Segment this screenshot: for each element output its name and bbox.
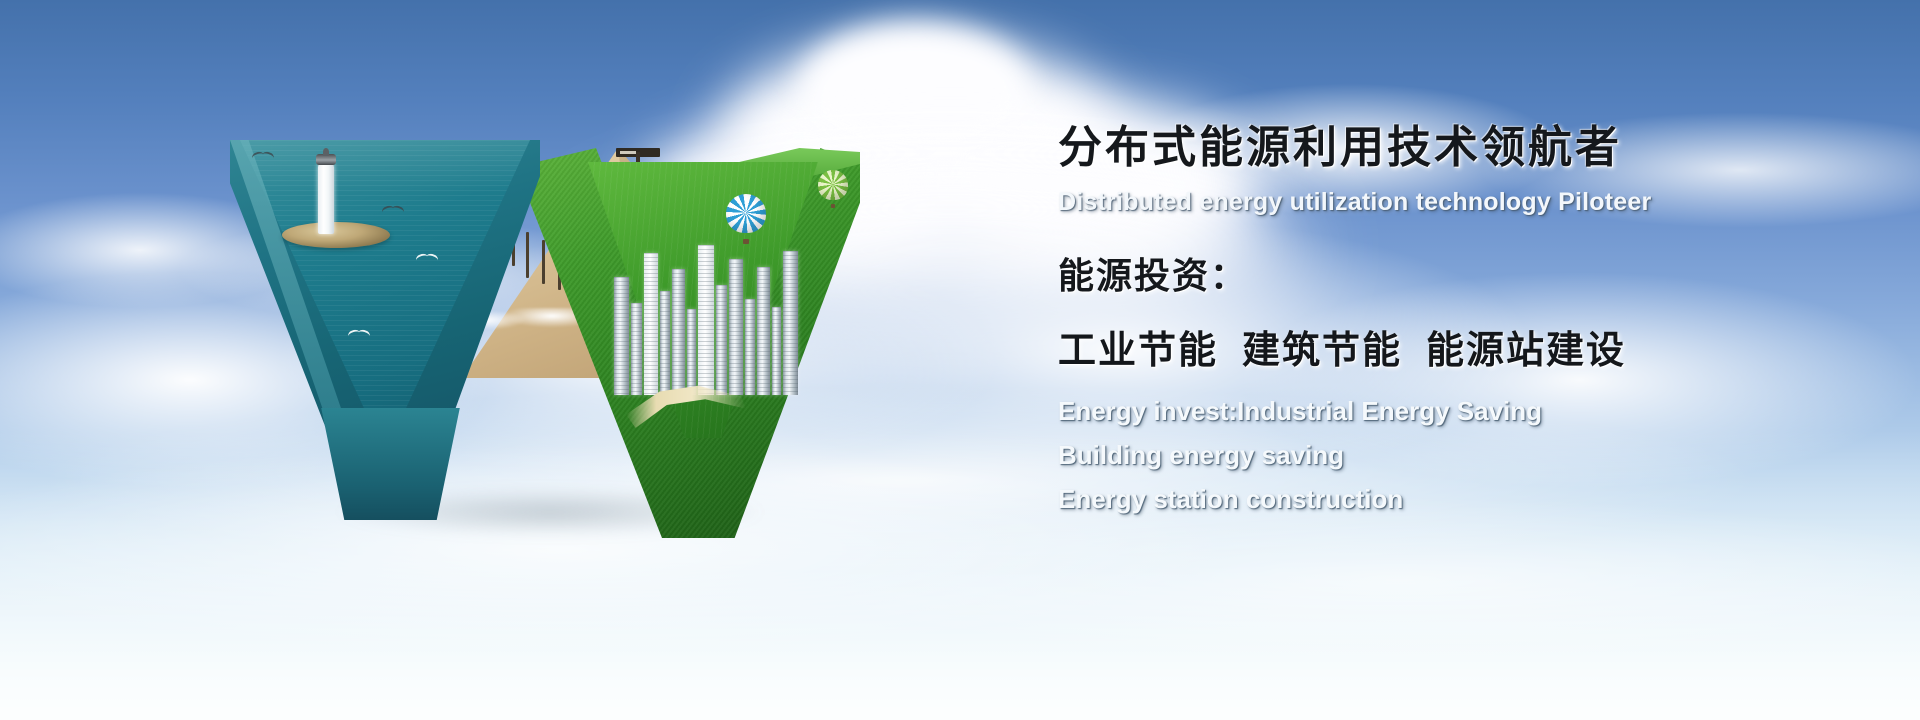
service-item-2: 能源站建设 <box>1426 330 1626 372</box>
city-skyline <box>614 210 804 395</box>
headline-english: Distributed energy utilization technolog… <box>1058 188 1858 217</box>
service-line-en-2: Energy station construction <box>1058 484 1858 515</box>
hero-artwork-w <box>230 120 870 540</box>
service-items-chinese: 工业节能建筑节能能源站建设 <box>1058 319 1858 374</box>
service-item-0: 工业节能 <box>1058 330 1218 372</box>
seagull-3 <box>348 326 370 336</box>
building-0 <box>614 277 629 395</box>
section-title-chinese: 能源投资： <box>1058 247 1858 299</box>
building-6 <box>698 245 714 395</box>
building-3 <box>660 291 670 395</box>
service-lines-english: Energy invest:Industrial Energy SavingBu… <box>1058 396 1858 515</box>
headline-chinese: 分布式能源利用技术领航者 <box>1058 124 1858 172</box>
seagull-2 <box>416 250 438 260</box>
lighthouse-icon <box>318 162 334 234</box>
letter-v-ocean <box>230 140 540 500</box>
building-7 <box>716 285 727 395</box>
lighthouse-roof-icon <box>323 148 329 156</box>
building-8 <box>729 259 743 395</box>
letter-v-grass <box>530 148 860 538</box>
building-11 <box>772 307 781 395</box>
building-10 <box>757 267 770 395</box>
seagull-0 <box>252 148 274 158</box>
blue-hot-air-balloon-icon <box>726 194 766 244</box>
seagull-1 <box>382 202 404 212</box>
service-line-en-1: Building energy saving <box>1058 440 1858 471</box>
rocky-island <box>282 222 390 248</box>
service-item-1: 建筑节能 <box>1242 330 1402 372</box>
green-hot-air-balloon-icon <box>818 170 848 208</box>
building-1 <box>631 303 642 395</box>
building-12 <box>783 251 798 395</box>
banner-text-block: 分布式能源利用技术领航者 Distributed energy utilizat… <box>1058 124 1858 515</box>
building-4 <box>672 269 685 395</box>
hero-banner: 分布式能源利用技术领航者 Distributed energy utilizat… <box>0 0 1920 720</box>
building-9 <box>745 299 755 395</box>
building-2 <box>644 253 658 395</box>
service-line-en-0: Energy invest:Industrial Energy Saving <box>1058 396 1858 427</box>
building-5 <box>687 309 696 395</box>
